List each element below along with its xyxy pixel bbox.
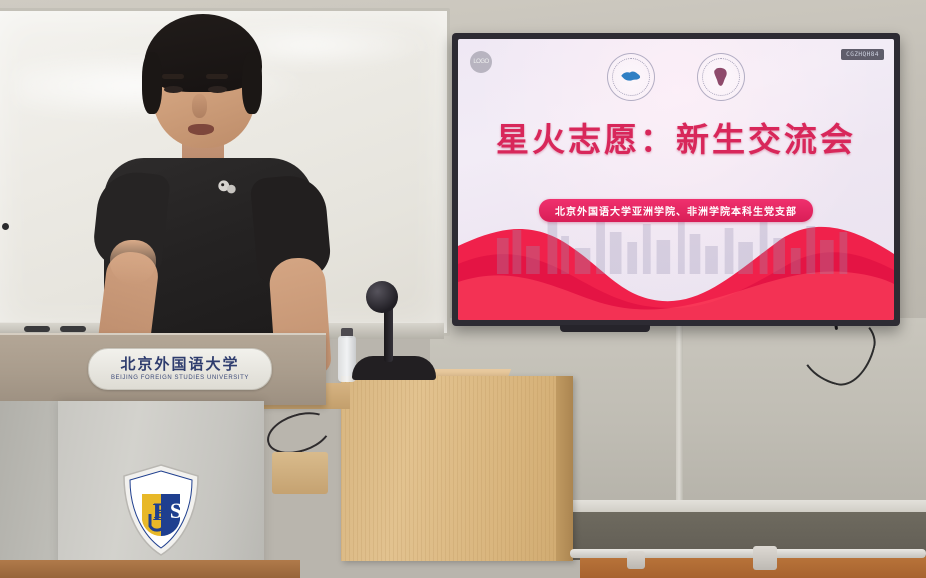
chair bbox=[272, 452, 328, 494]
display-mount bbox=[560, 325, 650, 332]
podium-plaque: 北京外国语大学 BEIJING FOREIGN STUDIES UNIVERSI… bbox=[88, 348, 272, 390]
hand-left bbox=[110, 240, 156, 284]
wooden-lectern-panel bbox=[341, 376, 573, 561]
microphone-base bbox=[352, 356, 436, 380]
slide-emblems bbox=[458, 53, 894, 101]
eye-right bbox=[208, 86, 227, 93]
asia-map-icon bbox=[618, 64, 644, 90]
africa-map-icon bbox=[708, 64, 734, 90]
asia-map-emblem bbox=[607, 53, 655, 101]
nose bbox=[192, 94, 207, 118]
speaker-person bbox=[96, 8, 336, 368]
presentation-display[interactable]: 星火志愿：新生交流会 北京外国语大学亚洲学院、非洲学院本科生党支部 LOGO C… bbox=[452, 33, 900, 326]
bfsu-crest-icon: B S F bbox=[120, 462, 202, 558]
screen-watermark-icon: LOGO bbox=[470, 51, 492, 73]
whiteboard-marker bbox=[24, 326, 50, 332]
whiteboard-pin bbox=[2, 223, 9, 230]
railing-bar bbox=[570, 549, 926, 558]
slide-title: 星火志愿：新生交流会 bbox=[458, 113, 894, 161]
eyebrow-left bbox=[162, 74, 184, 79]
whiteboard-marker bbox=[60, 326, 86, 332]
plaque-chinese-text: 北京外国语大学 bbox=[120, 357, 239, 372]
slide-subtitle: 北京外国语大学亚洲学院、非洲学院本科生党支部 bbox=[539, 199, 813, 222]
microphone-head bbox=[366, 281, 398, 313]
screen-id-badge: CGZHQH84 bbox=[841, 49, 884, 60]
svg-text:S: S bbox=[170, 498, 182, 523]
seat-row-left bbox=[0, 560, 300, 578]
mouth bbox=[188, 124, 214, 135]
tshirt-graphic-print bbox=[214, 174, 240, 202]
classroom-photo: 星火志愿：新生交流会 北京外国语大学亚洲学院、非洲学院本科生党支部 LOGO C… bbox=[0, 0, 926, 578]
hair-side-left bbox=[142, 52, 162, 114]
eyebrow-right bbox=[206, 74, 228, 79]
railing-bracket bbox=[753, 546, 777, 570]
slide-screen: 星火志愿：新生交流会 北京外国语大学亚洲学院、非洲学院本科生党支部 LOGO C… bbox=[458, 39, 894, 320]
eye-left bbox=[164, 86, 183, 93]
podium-side-panel bbox=[0, 401, 60, 578]
africa-map-emblem bbox=[697, 53, 745, 101]
hair-side-right bbox=[242, 52, 262, 114]
wall-seam bbox=[676, 318, 683, 523]
plaque-english-text: BEIJING FOREIGN STUDIES UNIVERSITY bbox=[111, 375, 249, 381]
railing-bracket bbox=[627, 551, 645, 569]
lectern-side-edge bbox=[556, 376, 573, 561]
